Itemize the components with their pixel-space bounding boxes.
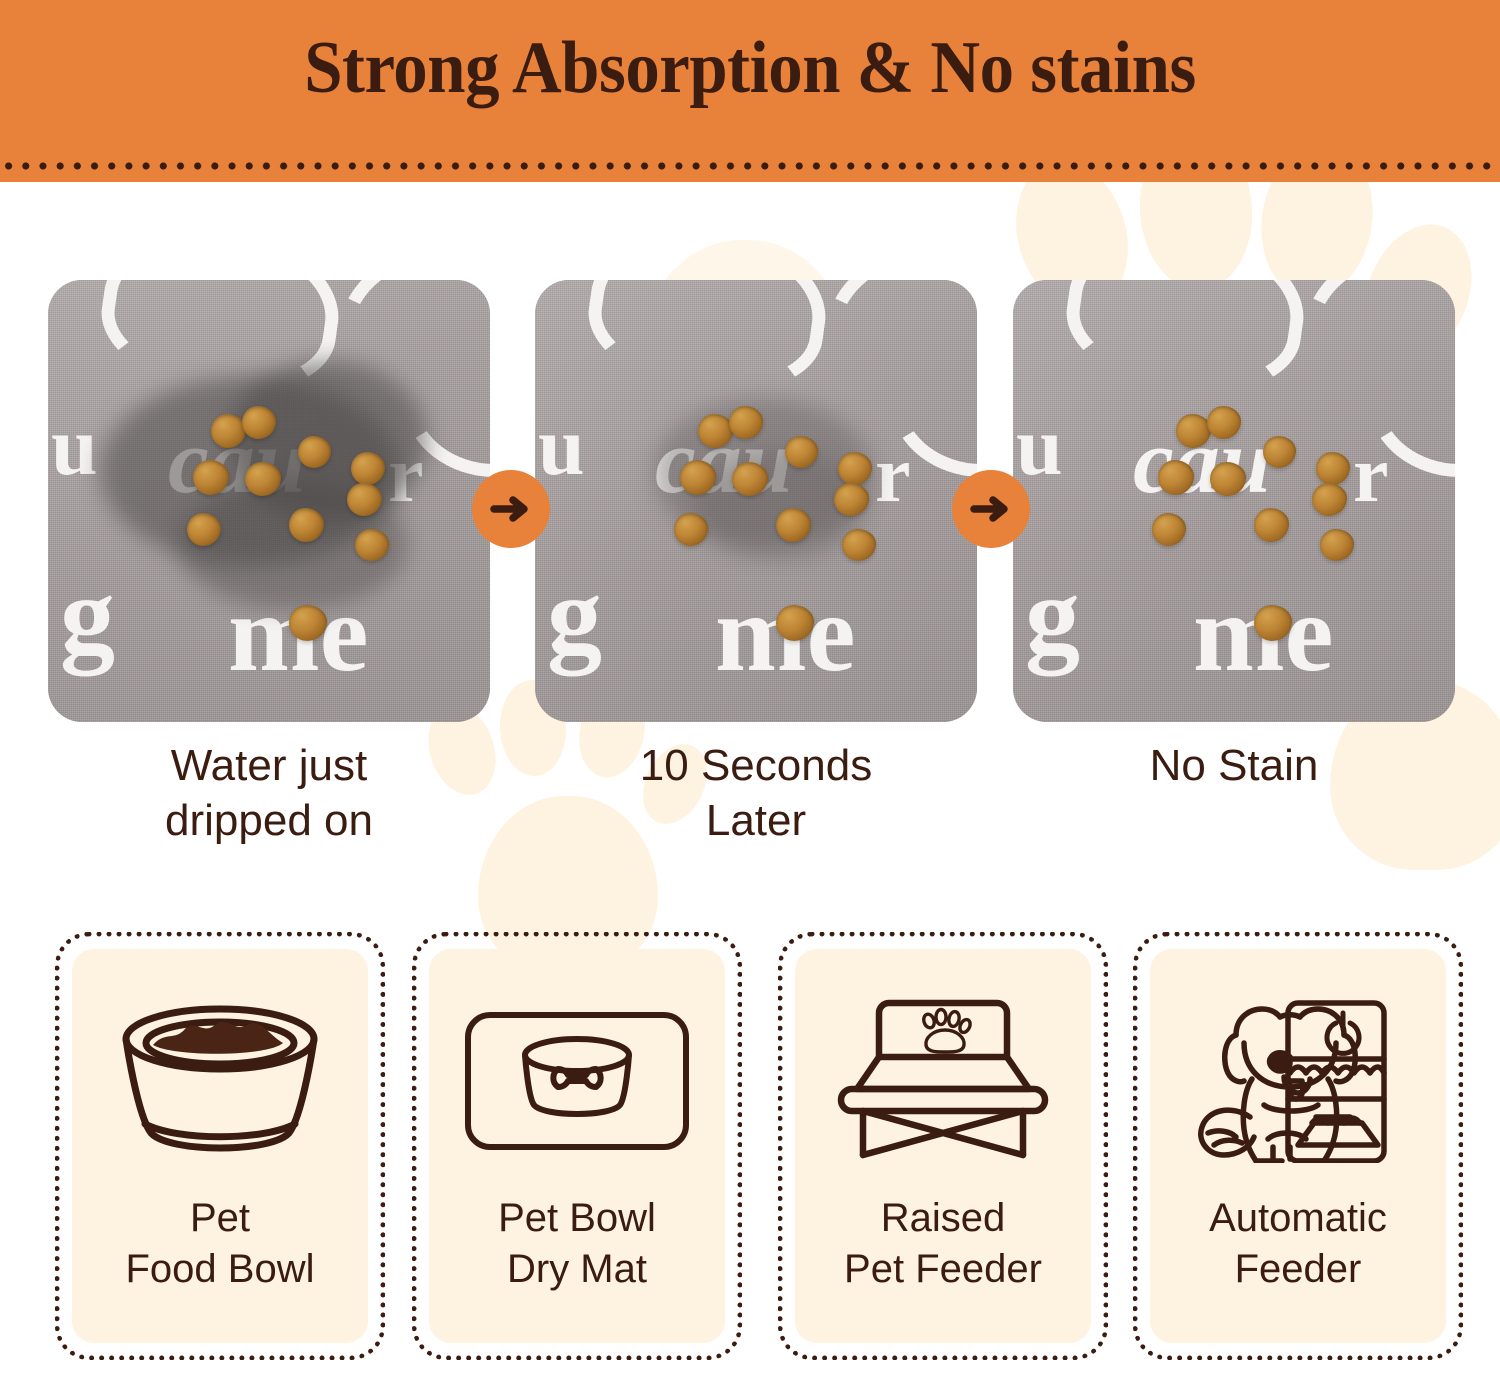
pet-food-bowl-icon	[107, 973, 333, 1189]
automatic-feeder-icon	[1178, 973, 1418, 1189]
absorption-demo-row: u cau r g me u	[0, 280, 1500, 722]
use-case-card-pet-food-bowl[interactable]: Pet Food Bowl	[55, 932, 385, 1360]
mat-letter-u: u	[1016, 398, 1063, 495]
page-title: Strong Absorption & No stains	[53, 30, 1448, 108]
card-inner: Pet Bowl Dry Mat	[429, 949, 725, 1343]
use-case-label: Pet Food Bowl	[126, 1193, 315, 1295]
raised-pet-feeder-icon	[827, 973, 1059, 1189]
demo-photo-step-1: u cau r g me	[48, 280, 490, 722]
demo-caption-3: No Stain	[1013, 738, 1455, 793]
use-case-card-automatic-feeder[interactable]: Automatic Feeder	[1133, 932, 1463, 1360]
mat-letter-g: g	[1025, 552, 1080, 679]
demo-caption-2: 10 Seconds Later	[535, 738, 977, 849]
pet-bowl-dry-mat-icon	[464, 973, 690, 1189]
dotted-divider	[0, 156, 1500, 172]
use-case-card-raised-pet-feeder[interactable]: Raised Pet Feeder	[778, 932, 1108, 1360]
card-inner: Pet Food Bowl	[72, 949, 368, 1343]
use-case-card-pet-bowl-dry-mat[interactable]: Pet Bowl Dry Mat	[412, 932, 742, 1360]
demo-photo-step-3: u cau r g me	[1013, 280, 1455, 722]
mat-letter-u: u	[51, 398, 98, 495]
arrow-right-icon-2	[952, 470, 1030, 548]
mat-letter-u: u	[538, 398, 585, 495]
mat-letter-g: g	[547, 552, 602, 679]
demo-photo-step-2: u cau r g me	[535, 280, 977, 722]
header-banner: Strong Absorption & No stains	[0, 0, 1500, 182]
use-case-label: Pet Bowl Dry Mat	[498, 1193, 656, 1295]
card-inner: Automatic Feeder	[1150, 949, 1446, 1343]
use-case-label: Automatic Feeder	[1209, 1193, 1387, 1295]
arrow-right-icon-1	[472, 470, 550, 548]
infographic-page: Strong Absorption & No stains u cau r g …	[0, 0, 1500, 1393]
use-case-cards: Pet Food Bowl Pet Bowl Dry Mat	[0, 932, 1500, 1372]
mat-letter-r: r	[875, 430, 911, 521]
mat-letter-r: r	[1353, 430, 1389, 521]
card-inner: Raised Pet Feeder	[795, 949, 1091, 1343]
mat-letter-g: g	[60, 552, 115, 679]
use-case-label: Raised Pet Feeder	[844, 1193, 1042, 1295]
demo-caption-1: Water just dripped on	[48, 738, 490, 849]
